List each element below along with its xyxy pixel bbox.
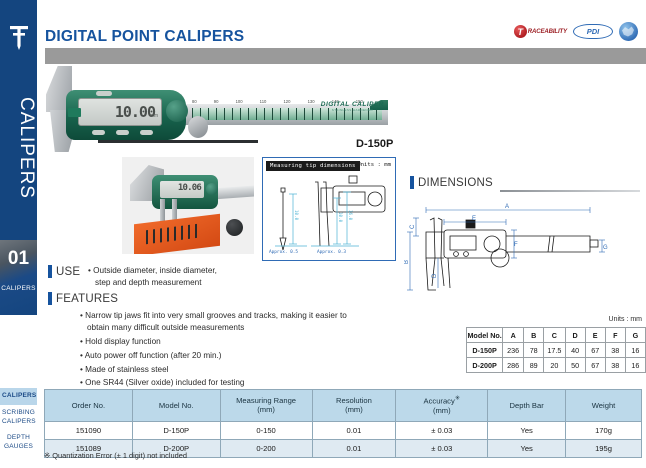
hero-product-photo: 80 90 100 110 120 130 140 150 mm DIGITAL… (40, 66, 390, 152)
spec-col-measuring-range: Measuring Range (mm) (220, 390, 312, 422)
spec-col-model-no: Model No. (132, 390, 220, 422)
sidebar-nav: CALIPERS SCRIBING CALIPERS DEPTH GAUGES (0, 388, 37, 456)
dim-cell-e-0: 67 (585, 343, 605, 358)
dim-table-header-row: Model No. A B C D E F G (467, 328, 646, 343)
brand-line-2: STAINLESS HARDENED (321, 108, 384, 112)
pdi-badge: PDI (573, 24, 613, 39)
dim-col-b: B (524, 328, 544, 343)
spec-col-range-line1: Measuring Range (236, 396, 296, 405)
spec-cell-resolution-1: 0.01 (312, 439, 396, 457)
sidebar-item-calipers[interactable]: CALIPERS (0, 388, 37, 405)
hero-brand-text: DIGITAL CALIPER STAINLESS HARDENED (321, 101, 384, 112)
dim-cell-a-1: 286 (503, 358, 524, 373)
spec-col-res-line2: (mm) (345, 405, 363, 414)
spec-col-range-line2: (mm) (257, 405, 275, 414)
certification-badges: T RACEABILITY PDI (514, 22, 638, 41)
dim-letter-E: E (472, 216, 476, 222)
spec-table-footnote: ※ Quantization Error (± 1 digit) not inc… (44, 451, 187, 460)
tip-dimensions-drawing (263, 158, 397, 262)
header-grey-band (45, 48, 646, 64)
spec-col-resolution: Resolution (mm) (312, 390, 396, 422)
dim-col-f: F (605, 328, 625, 343)
dim-cell-d-0: 40 (565, 343, 585, 358)
spec-cell-weight-0: 170g (566, 421, 642, 439)
dim-letter-F: F (514, 242, 518, 248)
tip-right-label: Approx. 0.3 (317, 250, 346, 255)
page-title: DIGITAL POINT CALIPERS (45, 28, 244, 46)
photo2-roller (226, 219, 243, 236)
chapter-number: 01 (0, 248, 37, 270)
measuring-tip-dimensions-box: Measuring tip dimensions Units : mm (262, 157, 396, 261)
hero-button-off (92, 130, 105, 135)
dim-col-a: A (503, 328, 524, 343)
hero-hold-button (96, 91, 112, 96)
spec-cell-range-0: 0-150 (220, 421, 312, 439)
dim-cell-g-1: 16 (625, 358, 645, 373)
dim-cell-c-1: 20 (544, 358, 565, 373)
dim-letter-D: D (432, 273, 438, 278)
scale-num-3: 110 (260, 99, 267, 108)
traceability-badge: T RACEABILITY (514, 25, 567, 38)
dim-col-model: Model No. (467, 328, 503, 343)
sidebar-vertical-label: CALIPERS (0, 56, 37, 236)
use-heading-bar (48, 265, 52, 278)
use-text: • Outside diameter, inside diameter, ste… (88, 265, 217, 289)
use-line-2: step and depth measurement (88, 277, 217, 289)
spec-cell-model-0: D-150P (132, 421, 220, 439)
dimensions-heading: DIMENSIONS (410, 176, 493, 189)
dim-cell-a-0: 236 (503, 343, 524, 358)
scale-num-0: 80 (192, 99, 197, 108)
dim-cell-model-1: D-200P (467, 358, 503, 373)
use-line-1: • Outside diameter, inside diameter, (88, 265, 217, 277)
table-row: 151090 D-150P 0-150 0.01 ± 0.03 Yes 170g (45, 421, 642, 439)
hero-button-zero (140, 130, 153, 135)
table-row: D-200P 286 89 20 50 67 38 16 (467, 358, 646, 373)
hero-brand-logo (68, 108, 81, 117)
sidebar-item-scribing-calipers[interactable]: SCRIBING CALIPERS (0, 405, 37, 431)
globe-icon (619, 22, 638, 41)
hero-depth-bar (98, 140, 258, 143)
spec-header-row: Order No. Model No. Measuring Range (mm)… (45, 390, 642, 422)
dim-letter-G: G (603, 245, 608, 251)
spec-cell-depth-0: Yes (488, 421, 566, 439)
dim-cell-b-1: 89 (524, 358, 544, 373)
spec-cell-accuracy-1: ± 0.03 (396, 439, 488, 457)
dim-col-g: G (625, 328, 645, 343)
traceability-label: RACEABILITY (528, 29, 567, 35)
hero-lcd-screen: 10.00 mm (78, 98, 162, 126)
dim-cell-f-0: 38 (605, 343, 625, 358)
features-heading: FEATURES (48, 292, 118, 305)
hero-roller (188, 116, 208, 138)
tip-right-vertical-label-1: 10.0 (338, 212, 343, 222)
photo2-thumb-wheel (206, 183, 218, 195)
dim-cell-b-0: 78 (524, 343, 544, 358)
dim-letter-B: B (404, 260, 410, 264)
sidebar-chapter-tab[interactable]: 01 CALIPERS (0, 240, 37, 315)
tip-left-vertical-label: 10.0 (294, 210, 299, 220)
spec-col-accuracy: Accuracy✳ (mm) (396, 390, 488, 422)
dimensions-units-label: Units : mm (609, 316, 642, 323)
feature-item-3: Made of stainless steel (80, 364, 365, 376)
feature-item-1: Hold display function (80, 336, 365, 348)
dim-cell-f-1: 38 (605, 358, 625, 373)
spec-col-acc-line1: Accuracy (424, 397, 455, 406)
features-heading-text: FEATURES (56, 293, 118, 305)
tip-left-label: Approx. 0.5 (269, 250, 298, 255)
spec-col-depth-bar: Depth Bar (488, 390, 566, 422)
application-photo: 10.06 (122, 157, 254, 254)
hero-button-on (116, 130, 129, 135)
spec-cell-order-0: 151090 (45, 421, 133, 439)
left-side-rail: CALIPERS 01 CALIPERS CALIPERS SCRIBING C… (0, 0, 37, 468)
feature-item-0: Narrow tip jaws fit into very small groo… (80, 310, 365, 335)
spec-cell-range-1: 0-200 (220, 439, 312, 457)
use-heading-text: USE (56, 266, 80, 278)
dim-letter-C: C (410, 224, 416, 229)
chapter-label: CALIPERS (0, 285, 37, 292)
scale-num-2: 100 (236, 99, 243, 108)
hero-lcd-unit: mm (150, 113, 158, 119)
spec-col-acc-line2: (mm) (433, 406, 451, 415)
feature-item-4: One SR44 (Silver oxide) included for tes… (80, 377, 365, 389)
dim-cell-c-0: 17.5 (544, 343, 565, 358)
dimensions-drawing: A E F G C B D (404, 196, 646, 292)
spec-cell-depth-1: Yes (488, 439, 566, 457)
tip-right-vertical-label-2: 16.0 (348, 210, 353, 220)
dimensions-heading-text: DIMENSIONS (418, 177, 493, 189)
spec-cell-accuracy-0: ± 0.03 (396, 421, 488, 439)
caliper-icon (8, 24, 30, 50)
dim-cell-d-1: 50 (565, 358, 585, 373)
dimensions-heading-rule (500, 190, 640, 192)
dimensions-heading-bar (410, 176, 414, 189)
photo2-lcd-value: 10.06 (178, 183, 201, 193)
hero-model-label: D-150P (356, 138, 393, 150)
spec-cell-resolution-0: 0.01 (312, 421, 396, 439)
spec-col-res-line1: Resolution (336, 396, 372, 405)
sidebar-item-depth-gauges[interactable]: DEPTH GAUGES (0, 430, 37, 456)
specifications-table: Order No. Model No. Measuring Range (mm)… (44, 389, 642, 458)
spec-col-weight: Weight (566, 390, 642, 422)
dim-col-e: E (585, 328, 605, 343)
dim-cell-model-0: D-150P (467, 343, 503, 358)
brand-line-1: DIGITAL CALIPER (321, 101, 384, 108)
scale-num-1: 90 (214, 99, 219, 108)
traceability-mark: T (514, 25, 527, 38)
use-heading: USE (48, 265, 80, 278)
features-heading-bar (48, 292, 52, 305)
dim-cell-e-1: 67 (585, 358, 605, 373)
hero-thumb-wheel (166, 100, 188, 122)
dim-cell-g-0: 16 (625, 343, 645, 358)
table-row: D-150P 236 78 17.5 40 67 38 16 (467, 343, 646, 358)
photo2-lcd-screen: 10.06 (160, 181, 204, 198)
features-list: Narrow tip jaws fit into very small groo… (80, 310, 365, 391)
scale-num-4: 120 (283, 99, 290, 108)
spec-col-order-no: Order No. (45, 390, 133, 422)
scale-num-5: 130 (308, 99, 315, 108)
feature-item-2: Auto power off function (after 20 min.) (80, 350, 365, 362)
dim-col-d: D (565, 328, 585, 343)
dim-col-c: C (544, 328, 565, 343)
dim-letter-A: A (505, 204, 509, 210)
dimensions-table: Model No. A B C D E F G D-150P 236 78 17… (466, 327, 646, 373)
spec-cell-weight-1: 195g (566, 439, 642, 457)
